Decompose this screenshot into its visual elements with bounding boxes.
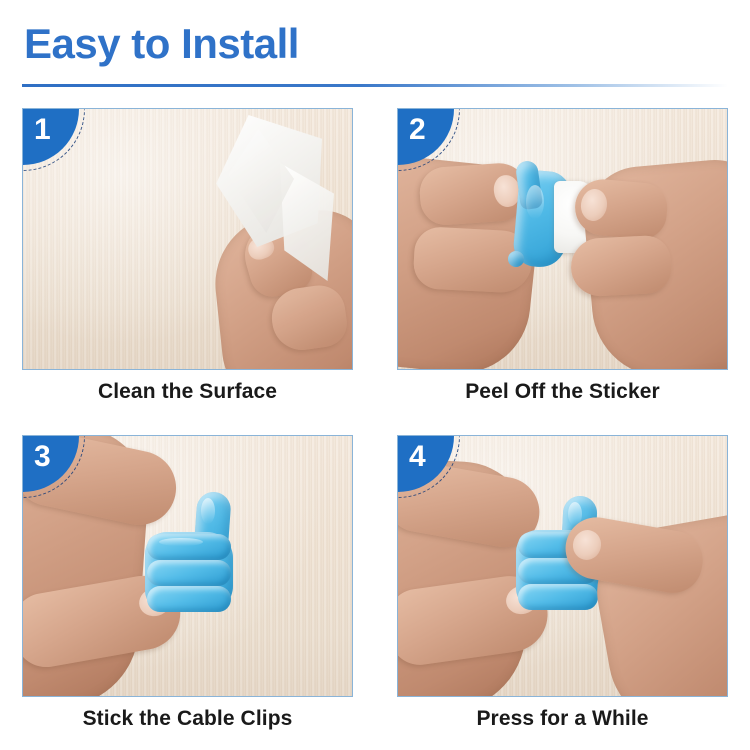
step-caption-3: Stick the Cable Clips (22, 706, 353, 731)
step-badge-1: 1 (23, 109, 83, 169)
step-photo-4: 4 (397, 435, 728, 697)
step-number: 2 (409, 115, 426, 145)
badge-quarter-circle (398, 436, 454, 492)
clip-highlight (526, 185, 544, 219)
step-card-4: 4 Press for a While (397, 435, 728, 749)
step-number: 3 (34, 442, 51, 472)
clip-highlight (201, 498, 215, 524)
steps-grid: 1 Clean the Surface (0, 108, 750, 748)
step-number: 4 (409, 442, 426, 472)
clip-knuckle-2 (147, 560, 231, 586)
step-caption-1: Clean the Surface (22, 379, 353, 404)
clip-knuckle-3 (147, 586, 231, 612)
clip-nub (508, 251, 524, 267)
step-card-3: 3 Stick the Cable Clips (22, 435, 353, 749)
clip-knuckle-highlight (159, 538, 203, 546)
install-instructions-infographic: Easy to Install 1 (0, 0, 750, 750)
step-badge-4: 4 (398, 436, 458, 496)
step-badge-3: 3 (23, 436, 83, 496)
badge-quarter-circle (398, 109, 454, 165)
badge-quarter-circle (23, 109, 79, 165)
step-photo-1: 1 (22, 108, 353, 370)
step-caption-4: Press for a While (397, 706, 728, 731)
step-photo-2: 2 (397, 108, 728, 370)
step-number: 1 (34, 115, 51, 145)
badge-quarter-circle (23, 436, 79, 492)
header: Easy to Install (0, 0, 750, 96)
title-divider (22, 84, 728, 87)
page-title: Easy to Install (24, 23, 299, 65)
step-caption-2: Peel Off the Sticker (397, 379, 728, 404)
step-card-2: 2 Peel Off the Sticker (397, 108, 728, 422)
right-thumb (570, 234, 673, 297)
clip-knuckle-3 (518, 584, 598, 610)
step-badge-2: 2 (398, 109, 458, 169)
step-card-1: 1 Clean the Surface (22, 108, 353, 422)
step-photo-3: 3 (22, 435, 353, 697)
